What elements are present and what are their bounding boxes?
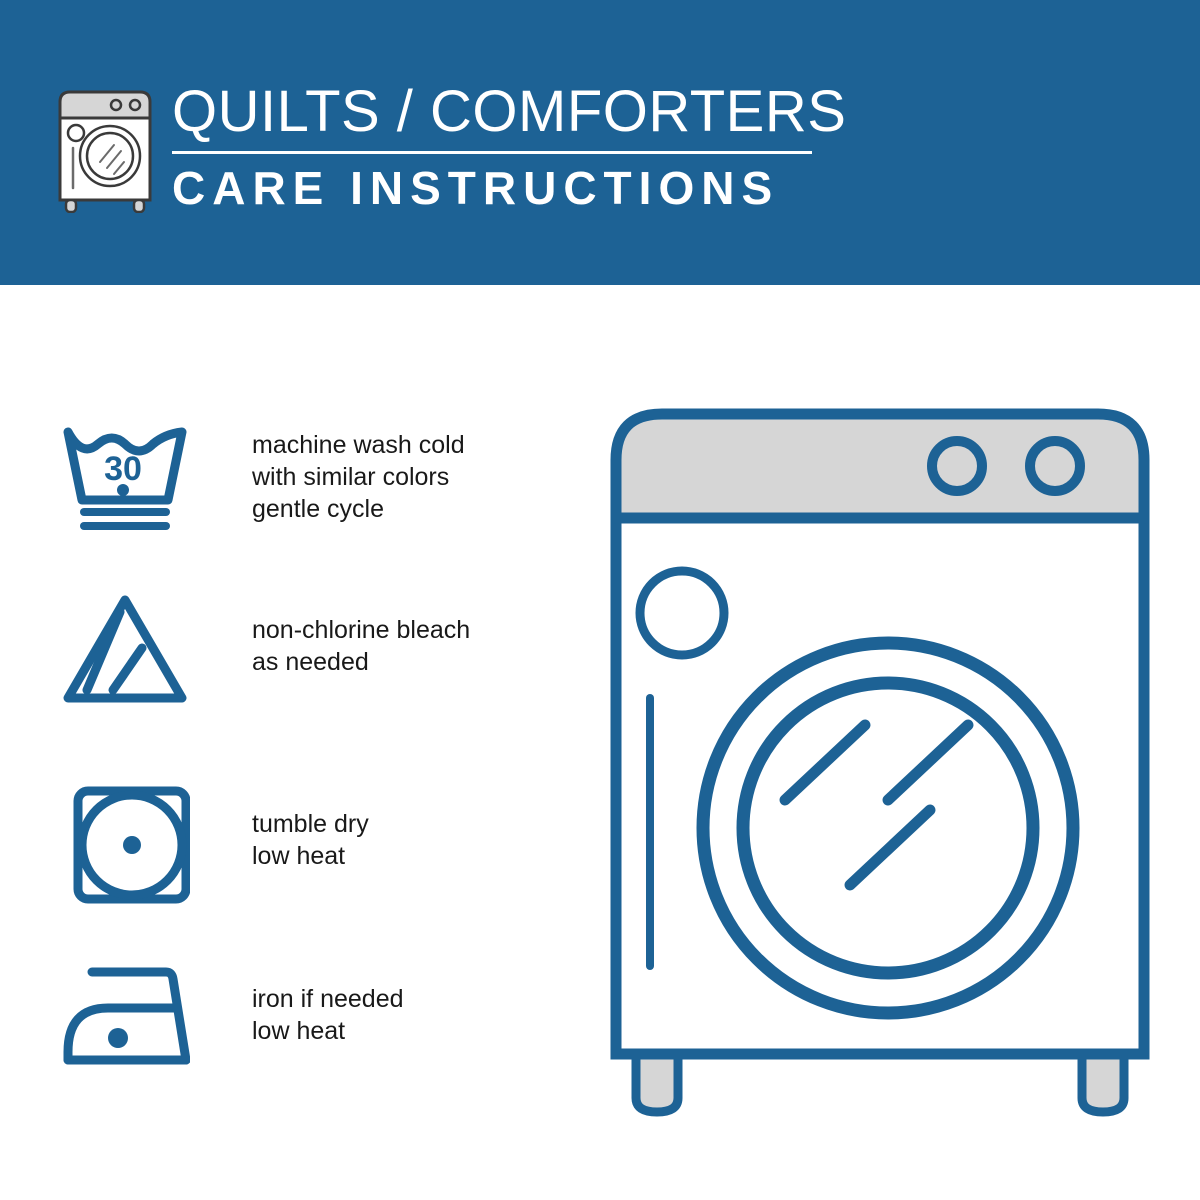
page-subtitle: CARE INSTRUCTIONS	[172, 164, 822, 212]
care-text-line: low heat	[252, 1015, 520, 1047]
header-title-group: QUILTS / COMFORTERS CARE INSTRUCTIONS	[172, 82, 822, 212]
care-instructions-page: QUILTS / COMFORTERS CARE INSTRUCTIONS 30	[0, 0, 1200, 1200]
care-text-line: non-chlorine bleach	[252, 614, 520, 646]
machine-wash-tub-icon: 30	[60, 418, 190, 538]
tumble-dry-icon	[60, 785, 190, 905]
care-text-line: tumble dry	[252, 808, 520, 840]
care-item-tumble-dry-text: tumble dry low heat	[252, 808, 520, 872]
care-text-line: machine wash cold	[252, 429, 520, 461]
wash-temperature-label: 30	[104, 450, 142, 488]
care-text-line: as needed	[252, 646, 520, 678]
front-load-washing-machine-illustration	[600, 398, 1160, 1128]
care-text-line: with similar colors	[252, 461, 520, 493]
iron-icon	[60, 960, 190, 1080]
machine-control-panel	[616, 414, 1144, 518]
header-banner: QUILTS / COMFORTERS CARE INSTRUCTIONS	[0, 0, 1200, 285]
care-instruction-list: 30 machine wash cold with similar colors…	[0, 285, 560, 1200]
title-divider	[172, 151, 812, 154]
non-chlorine-bleach-triangle-icon	[60, 590, 190, 710]
washing-machine-logo-icon	[50, 78, 160, 213]
care-text-line: iron if needed	[252, 983, 520, 1015]
care-text-line: gentle cycle	[252, 493, 520, 525]
care-item-iron-text: iron if needed low heat	[252, 983, 520, 1047]
care-item-bleach-text: non-chlorine bleach as needed	[252, 614, 520, 678]
care-item-machine-wash-text: machine wash cold with similar colors ge…	[252, 429, 520, 525]
page-title: QUILTS / COMFORTERS	[172, 82, 822, 143]
care-text-line: low heat	[252, 840, 520, 872]
